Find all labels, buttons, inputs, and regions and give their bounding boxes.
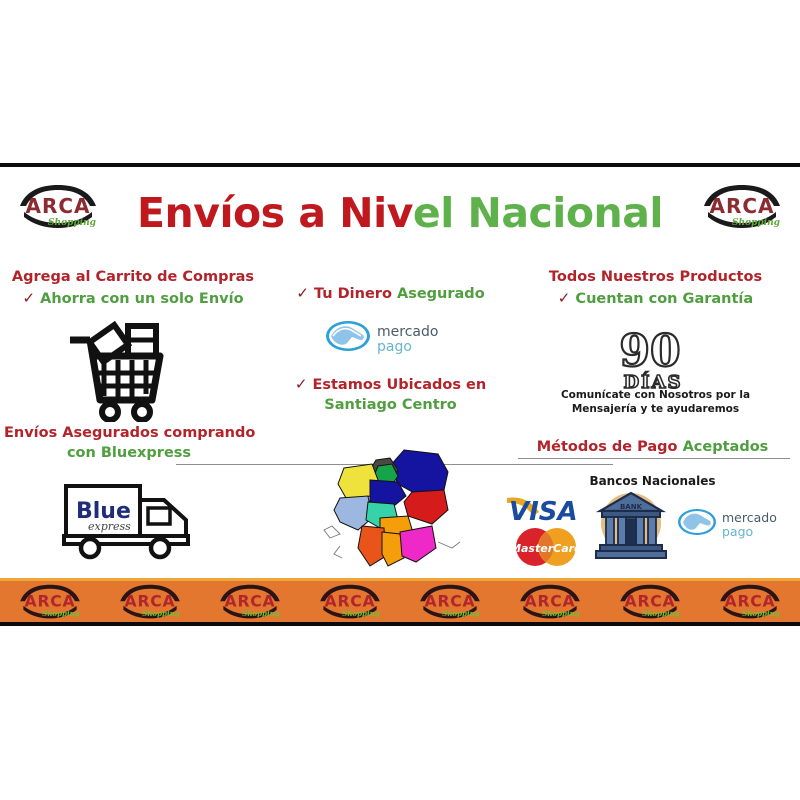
svg-text:ARCA: ARCA — [25, 591, 76, 610]
mp-text-pago: pago — [377, 339, 412, 355]
mp-text-mercado: mercado — [377, 324, 438, 340]
bottom-logo-strip: ARCA Shopping ARCA Shopping ARCA Shoppin… — [0, 581, 800, 622]
svg-text:ARCA: ARCA — [525, 591, 576, 610]
bancos-nacionales-label: Bancos Nacionales — [520, 474, 785, 488]
svg-text:ARCA: ARCA — [625, 591, 676, 610]
title-part-green: el Nacional — [413, 189, 663, 237]
carrito-line1: Agrega al Carrito de Compras — [8, 268, 258, 288]
pago-title-green: Aceptados — [683, 439, 769, 455]
ubicacion-line1: Estamos Ubicados en — [312, 377, 486, 393]
garantia-note: Comunícate con Nosotros por la Mensajerí… — [528, 388, 783, 416]
svg-text:Shopping: Shopping — [342, 609, 379, 618]
poster-canvas: ARCA Shopping ARCA Shopping Envíos a Niv… — [0, 0, 800, 800]
badge-number-outline: 90 — [619, 326, 680, 377]
strip-logo-item: ARCA Shopping — [200, 584, 300, 620]
svg-text:Shopping: Shopping — [42, 609, 79, 618]
svg-text:ARCA: ARCA — [225, 591, 276, 610]
block-metodos-pago: Métodos de Pago Aceptados — [520, 438, 785, 458]
check-icon: ✓ — [295, 375, 308, 393]
svg-text:Shopping: Shopping — [142, 609, 179, 618]
svg-text:Shopping: Shopping — [442, 609, 479, 618]
block-garantia: Todos Nuestros Productos ✓ Cuentan con G… — [528, 268, 783, 309]
strip-logo-item: ARCA Shopping — [600, 584, 700, 620]
visa-wordmark: VISA — [509, 497, 578, 526]
check-icon: ✓ — [558, 289, 571, 307]
mercadopago-logo-middle: mercado pago — [325, 317, 450, 362]
bottom-divider-rule — [0, 622, 800, 626]
dinero-line: ✓ Tu Dinero Asegurado — [283, 283, 498, 305]
mercadopago-logo-bottom: mercado pago — [677, 505, 787, 546]
bank-building-icon: BANK — [592, 489, 670, 566]
express-wordmark: express — [88, 520, 131, 533]
strip-logo-item: ARCA Shopping — [0, 584, 100, 620]
svg-text:Shopping: Shopping — [642, 609, 679, 618]
bank-label: BANK — [620, 503, 643, 511]
strip-logo-item: ARCA Shopping — [400, 584, 500, 620]
chile-regions-map — [320, 444, 480, 575]
warranty-90-days-badge: 90 DÍAS — [598, 326, 708, 397]
bluexpress-line2: con Bluexpress — [4, 444, 254, 464]
garantia-line2-row: ✓ Cuentan con Garantía — [528, 288, 783, 310]
mastercard-logo: MasterCard — [505, 527, 587, 572]
ubicacion-line1-row: ✓ Estamos Ubicados en — [283, 374, 498, 396]
mp-text-mercado: mercado — [722, 510, 777, 525]
svg-text:ARCA: ARCA — [725, 591, 776, 610]
svg-text:Shopping: Shopping — [742, 609, 779, 618]
strip-logo-item: ARCA Shopping — [300, 584, 400, 620]
banner-title: Envíos a Nivel Nacional — [0, 192, 800, 235]
strip-logo-item: ARCA Shopping — [100, 584, 200, 620]
dinero-text-red: Tu Dinero — [314, 286, 392, 302]
connector-line-pago — [518, 458, 790, 459]
mastercard-wordmark: MasterCard — [510, 542, 582, 555]
strip-logo-item: ARCA Shopping — [500, 584, 600, 620]
visa-logo: VISA — [505, 492, 587, 531]
mp-text-pago: pago — [722, 524, 753, 539]
pago-title-red: Métodos de Pago — [537, 439, 678, 455]
garantia-note-line2: Mensajería y te ayudaremos — [528, 402, 783, 416]
svg-text:ARCA: ARCA — [425, 591, 476, 610]
block-ubicacion: ✓ Estamos Ubicados en Santiago Centro — [283, 374, 498, 415]
delivery-truck-icon: Blue express — [60, 478, 210, 565]
check-icon: ✓ — [296, 284, 309, 302]
svg-text:ARCA: ARCA — [125, 591, 176, 610]
garantia-line2: Cuentan con Garantía — [575, 291, 753, 307]
strip-logo-item: ARCA Shopping — [700, 584, 800, 620]
svg-text:Shopping: Shopping — [242, 609, 279, 618]
garantia-note-line1: Comunícate con Nosotros por la — [528, 388, 783, 402]
carrito-line2: Ahorra con un solo Envío — [40, 291, 243, 307]
shopping-cart-icon — [60, 318, 180, 427]
svg-text:ARCA: ARCA — [325, 591, 376, 610]
check-icon: ✓ — [22, 289, 35, 307]
bluexpress-line1: Envíos Asegurados comprando — [4, 424, 254, 444]
garantia-line1: Todos Nuestros Productos — [528, 268, 783, 288]
block-bluexpress: Envíos Asegurados comprando con Bluexpre… — [4, 424, 254, 463]
dinero-text-green: Asegurado — [397, 286, 485, 302]
svg-text:Shopping: Shopping — [542, 609, 579, 618]
block-dinero: ✓ Tu Dinero Asegurado — [283, 283, 498, 305]
title-part-red: Envíos a Niv — [137, 189, 413, 237]
carrito-line2-row: ✓ Ahorra con un solo Envío — [8, 288, 258, 310]
pago-title-row: Métodos de Pago Aceptados — [520, 438, 785, 458]
ubicacion-line2: Santiago Centro — [283, 396, 498, 416]
block-carrito: Agrega al Carrito de Compras ✓ Ahorra co… — [8, 268, 258, 309]
